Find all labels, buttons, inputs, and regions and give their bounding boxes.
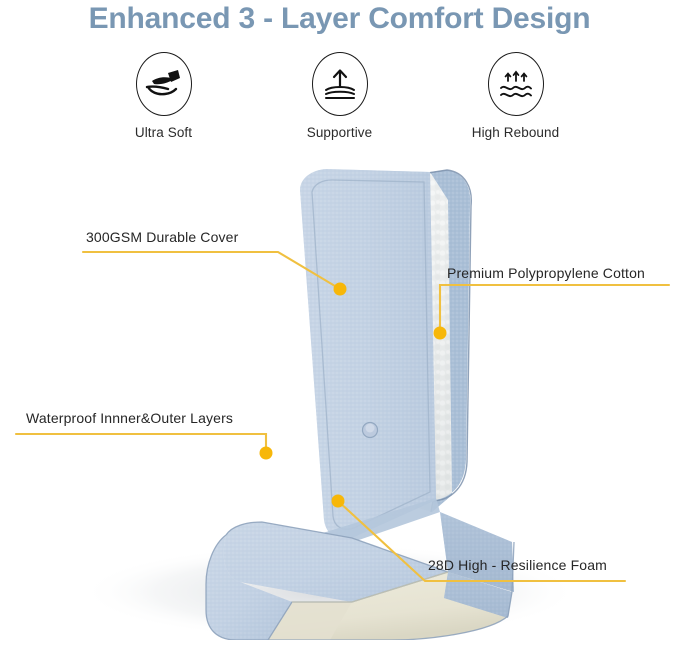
callout-label-waterproof: Waterproof Innner&Outer Layers (26, 411, 233, 426)
feature-list: Ultra Soft Supportive (0, 52, 679, 140)
callout-label-cotton: Premium Polypropylene Cotton (447, 266, 645, 281)
page-title: Enhanced 3 - Layer Comfort Design (0, 2, 679, 36)
up-arrow-layers-icon (312, 52, 368, 116)
feature-high-rebound: High Rebound (461, 52, 571, 140)
rebound-waves-icon (488, 52, 544, 116)
feature-label: Ultra Soft (135, 125, 192, 140)
callout-label-foam: 28D High - Resilience Foam (428, 558, 607, 573)
feature-supportive: Supportive (285, 52, 395, 140)
callout-label-cover: 300GSM Durable Cover (86, 230, 238, 245)
feature-label: Supportive (307, 125, 373, 140)
feature-label: High Rebound (472, 125, 560, 140)
infographic-root: Enhanced 3 - Layer Comfort Design Ultra … (0, 0, 679, 650)
feature-ultra-soft: Ultra Soft (109, 52, 219, 140)
hand-feather-icon (136, 52, 192, 116)
